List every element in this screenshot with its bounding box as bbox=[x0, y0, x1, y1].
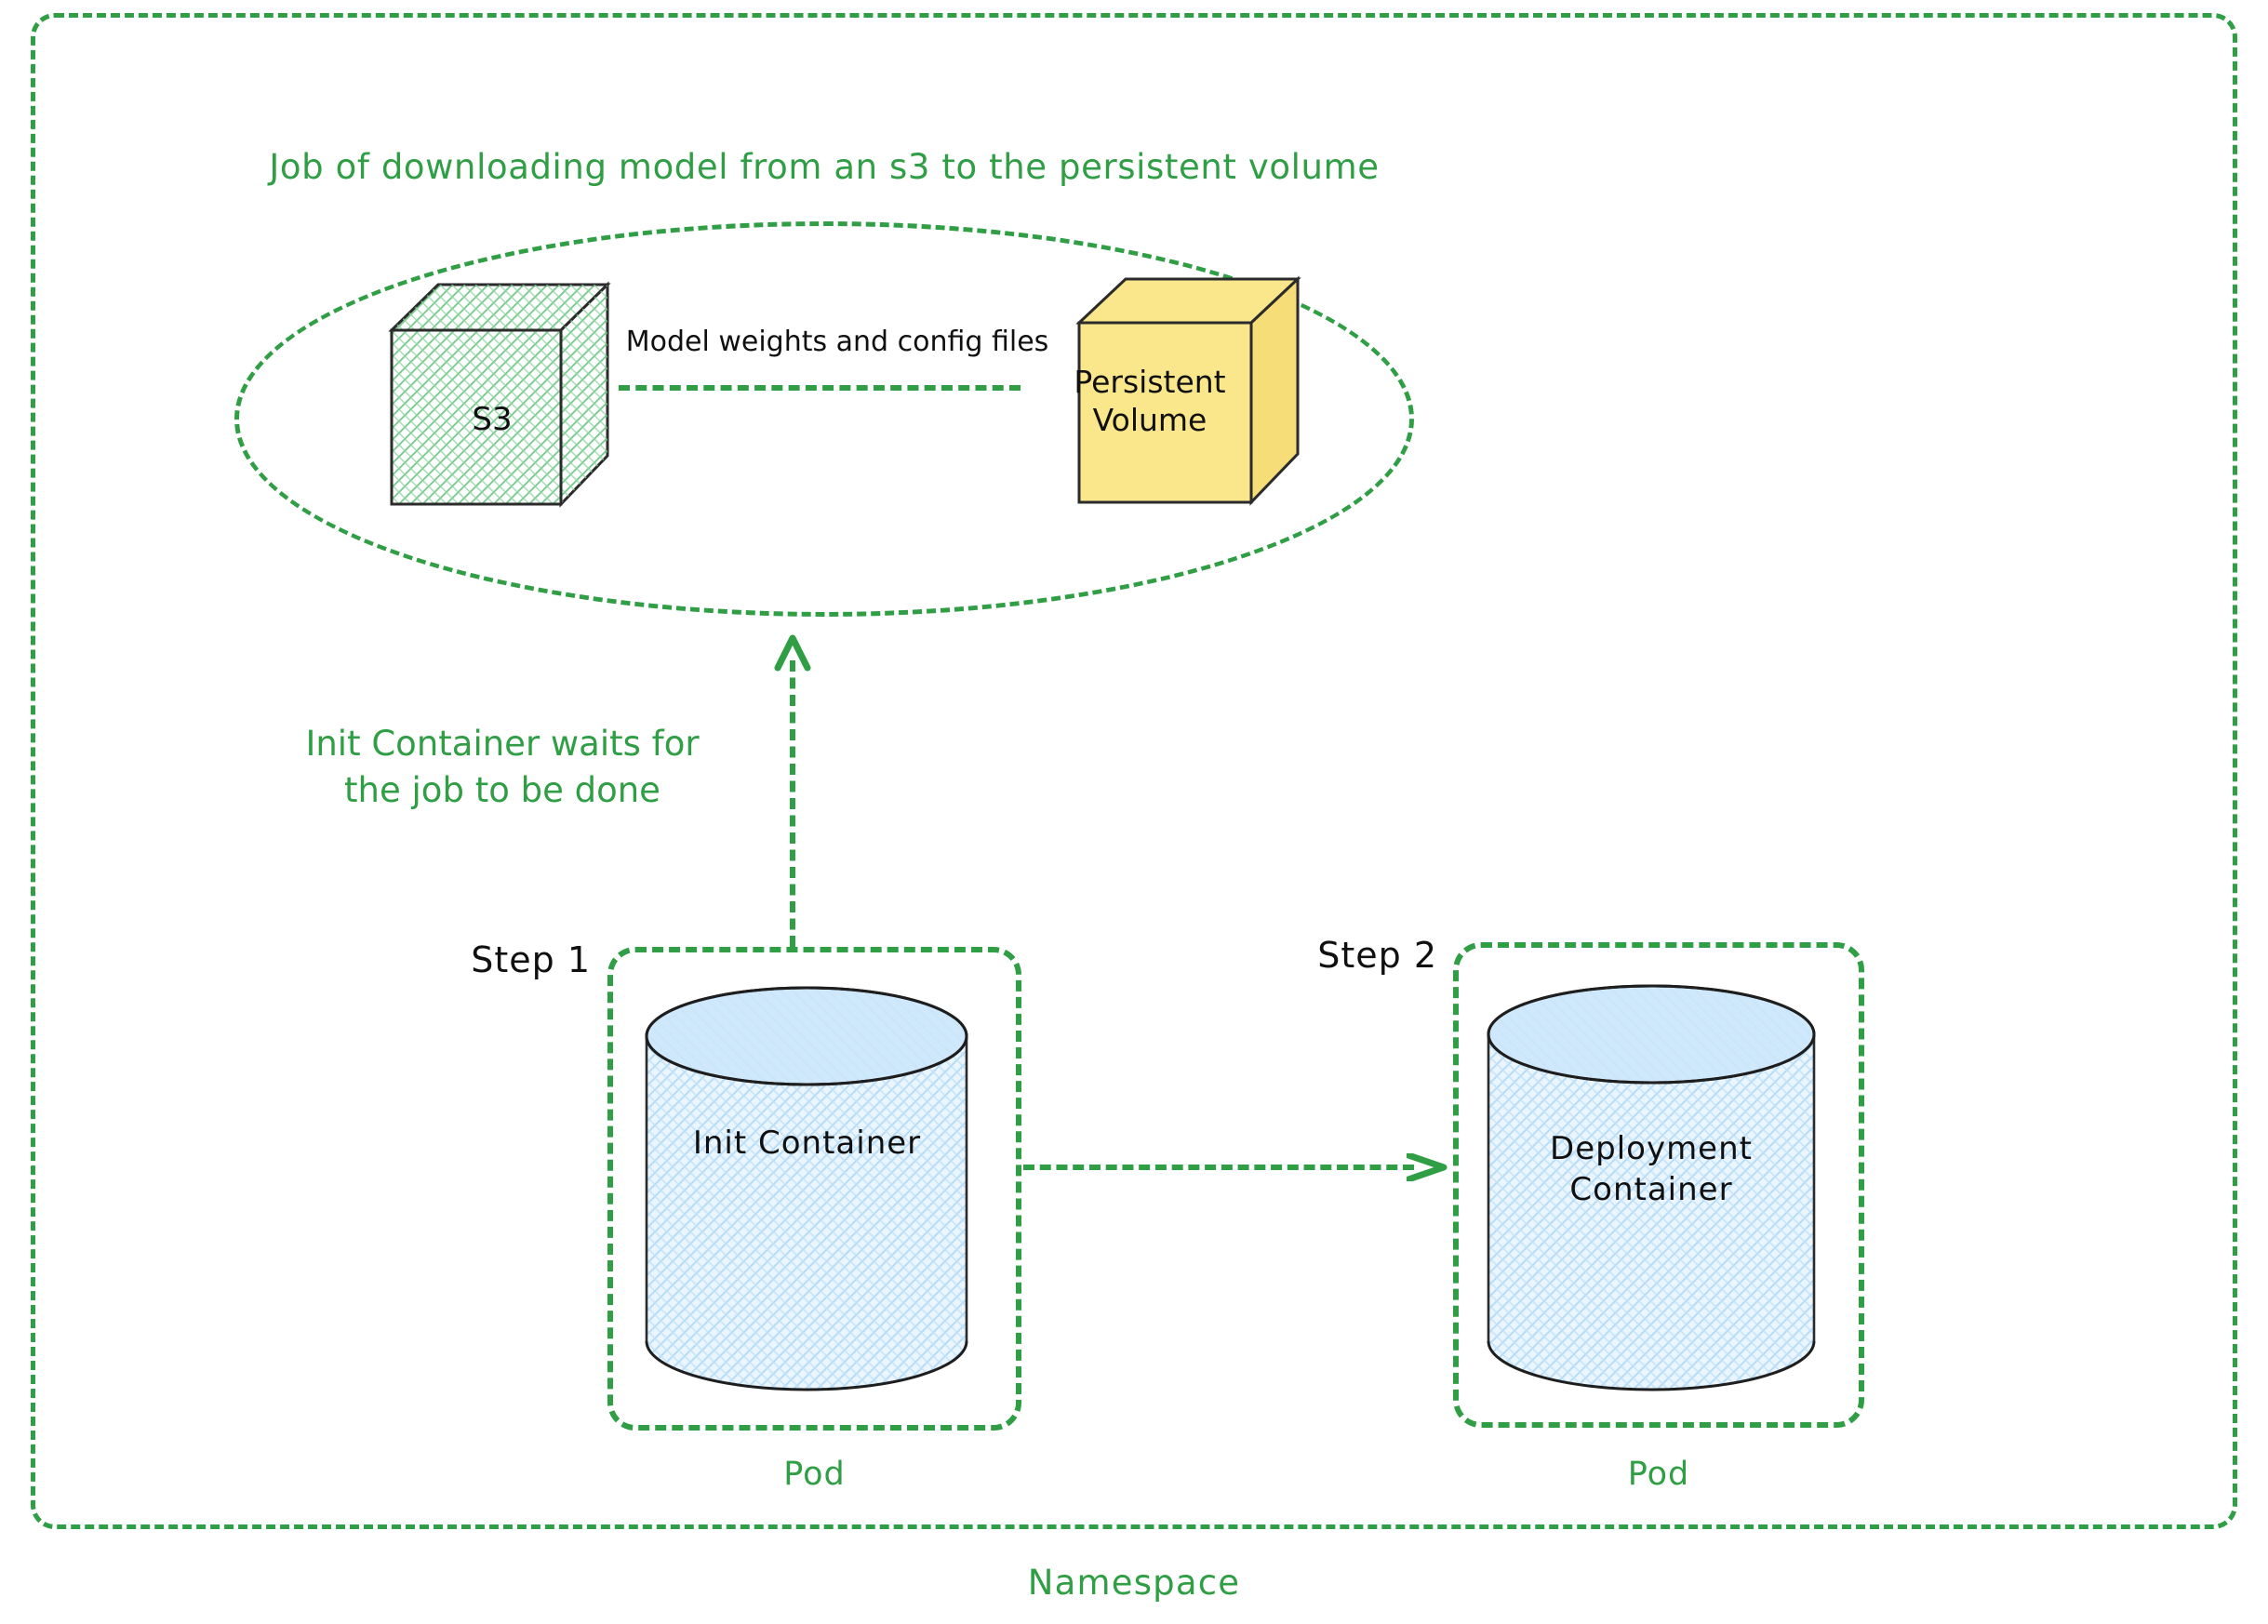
model-transfer-arrow-label: Model weights and config files bbox=[586, 326, 1088, 358]
wait-label-line-1: Init Container waits for bbox=[233, 721, 772, 767]
pod-2-label: Pod bbox=[1453, 1456, 1864, 1493]
namespace-label: Namespace bbox=[0, 1563, 2268, 1603]
arrow-head-icon bbox=[1407, 1153, 1449, 1181]
model-transfer-arrow bbox=[619, 374, 1061, 402]
arrow-head-up-icon bbox=[772, 634, 813, 672]
job-title: Job of downloading model from an s3 to t… bbox=[234, 147, 1414, 187]
init-wait-arrow bbox=[790, 640, 799, 947]
init-container-cylinder bbox=[642, 983, 972, 1392]
step-2-label: Step 2 bbox=[1274, 935, 1437, 976]
diagram-canvas: Namespace Job of downloading model from … bbox=[0, 0, 2268, 1624]
persistent-volume-cube bbox=[1074, 274, 1302, 507]
deployment-container-cylinder bbox=[1484, 981, 1819, 1392]
arrow-line bbox=[1023, 1165, 1414, 1170]
step-transition-arrow bbox=[1023, 1153, 1451, 1181]
arrow-line bbox=[619, 385, 1021, 391]
init-wait-arrow-label: Init Container waits for the job to be d… bbox=[233, 721, 772, 814]
wait-label-line-2: the job to be done bbox=[233, 767, 772, 814]
step-1-label: Step 1 bbox=[428, 939, 591, 980]
arrow-line bbox=[790, 660, 795, 947]
pod-1-label: Pod bbox=[607, 1456, 1021, 1493]
s3-cube bbox=[386, 279, 609, 510]
